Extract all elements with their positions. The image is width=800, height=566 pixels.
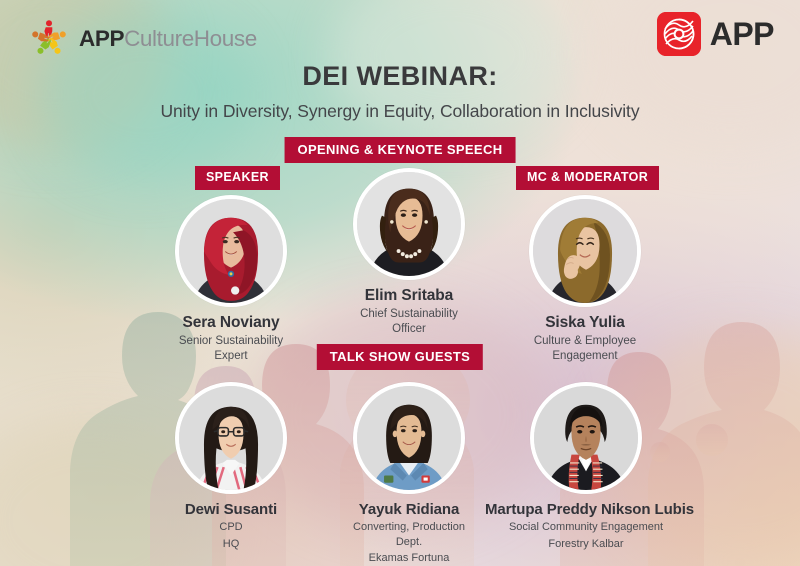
avatar [175, 382, 287, 494]
person-name: Elim Sritaba [348, 287, 470, 305]
person-role-line1: Converting, Production Dept. [350, 520, 468, 549]
people-circle-logo-icon [28, 18, 70, 60]
person-name: Yayuk Ridiana [350, 501, 468, 518]
logo-text-culturehouse: CultureHouse [124, 26, 257, 51]
avatar [530, 382, 642, 494]
app-culturehouse-wordmark: APPCultureHouse [79, 26, 257, 52]
app-culturehouse-logo: APPCultureHouse [28, 18, 257, 60]
person-role: Senior Sustainability Expert [172, 334, 290, 364]
person-role-line2: HQ [172, 537, 290, 552]
portrait-dewi-susanti-icon [179, 386, 283, 490]
person-role-line1: CPD [172, 520, 290, 535]
person-name: Martupa Preddy Nikson Lubis [485, 501, 687, 518]
person-name: Dewi Susanti [172, 501, 290, 518]
portrait-siska-yulia-icon [533, 199, 637, 303]
person-card-dewi-susanti: Dewi Susanti CPD HQ [172, 382, 290, 551]
person-card-yayuk-ridiana: Yayuk Ridiana Converting, Production Dep… [350, 382, 468, 566]
portrait-martupa-preddy-nikson-lubis-icon [534, 386, 638, 490]
person-role: Culture & Employee Engagement [525, 334, 645, 364]
app-spiral-logo-icon [657, 12, 701, 56]
avatar [529, 195, 641, 307]
person-card-siska-yulia: Siska Yulia Culture & Employee Engagemen… [525, 195, 645, 364]
person-role: Chief Sustainability Officer [348, 307, 470, 337]
person-name: Sera Noviany [172, 314, 290, 332]
portrait-yayuk-ridiana-icon [357, 386, 461, 490]
person-card-martupa-preddy-nikson-lubis: Martupa Preddy Nikson Lubis Social Commu… [527, 382, 645, 551]
webinar-poster: APPCultureHouse APP [0, 0, 800, 566]
person-card-elim-sritaba: Elim Sritaba Chief Sustainability Office… [348, 168, 470, 337]
person-name: Siska Yulia [525, 314, 645, 332]
badge-speaker: SPEAKER [195, 166, 280, 190]
avatar [175, 195, 287, 307]
avatar [353, 382, 465, 494]
portrait-elim-sritaba-icon [357, 172, 461, 276]
badge-mc-moderator: MC & MODERATOR [516, 166, 659, 190]
person-role-line1: Social Community Engagement [485, 520, 687, 535]
avatar [353, 168, 465, 280]
logo-text-app: APP [79, 26, 124, 51]
page-title: DEI WEBINAR: [0, 62, 800, 92]
badge-talk-show-guests: TALK SHOW GUESTS [317, 344, 483, 370]
page-subtitle: Unity in Diversity, Synergy in Equity, C… [0, 101, 800, 122]
person-card-sera-noviany: Sera Noviany Senior Sustainability Exper… [172, 195, 290, 364]
badge-opening-keynote-speech: OPENING & KEYNOTE SPEECH [285, 137, 516, 163]
person-role-line2: Forestry Kalbar [485, 537, 687, 552]
app-wordmark: APP [710, 16, 774, 53]
title-block: DEI WEBINAR: Unity in Diversity, Synergy… [0, 62, 800, 122]
person-role-line2: Ekamas Fortuna [350, 551, 468, 566]
portrait-sera-noviany-icon [179, 199, 283, 303]
app-corporate-logo: APP [657, 12, 774, 56]
